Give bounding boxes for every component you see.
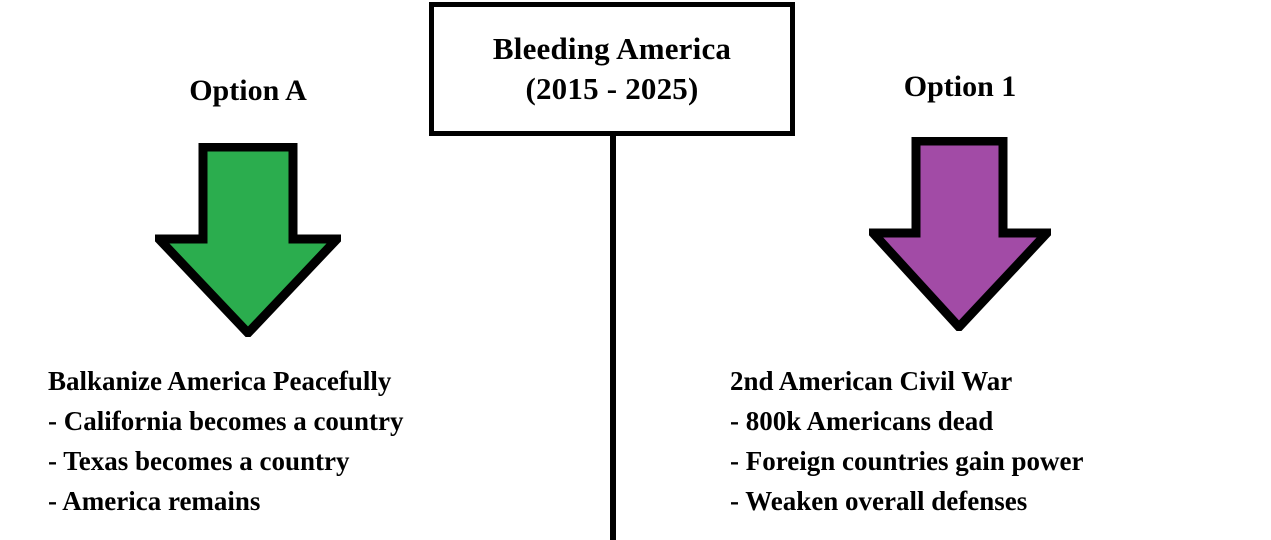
option-label-right: Option 1 <box>830 70 1090 104</box>
down-arrow-shape-left <box>155 143 341 337</box>
outcome-bullet-right-2: - Foreign countries gain power <box>730 442 1083 482</box>
title-period: (2015 - 2025) <box>525 69 698 109</box>
down-arrow-shape-right <box>869 137 1051 331</box>
outcome-bullet-right-3: - Weaken overall defenses <box>730 482 1083 522</box>
outcome-block-right: 2nd American Civil War - 800k Americans … <box>730 362 1083 522</box>
vertical-divider-line <box>610 133 616 540</box>
outcome-heading-left: Balkanize America Peacefully <box>48 362 403 402</box>
outcome-bullet-left-3: - America remains <box>48 482 403 522</box>
outcome-heading-right: 2nd American Civil War <box>730 362 1083 402</box>
option-label-left: Option A <box>118 74 378 108</box>
outcome-bullet-right-1: - 800k Americans dead <box>730 402 1083 442</box>
outcome-block-left: Balkanize America Peacefully - Californi… <box>48 362 403 522</box>
outcome-bullet-left-2: - Texas becomes a country <box>48 442 403 482</box>
title-name: Bleeding America <box>493 29 731 69</box>
down-arrow-icon-left <box>155 143 341 337</box>
diagram-canvas: Bleeding America (2015 - 2025) Option A … <box>0 0 1271 540</box>
down-arrow-icon-right <box>869 137 1051 331</box>
title-box: Bleeding America (2015 - 2025) <box>429 2 795 136</box>
outcome-bullet-left-1: - California becomes a country <box>48 402 403 442</box>
